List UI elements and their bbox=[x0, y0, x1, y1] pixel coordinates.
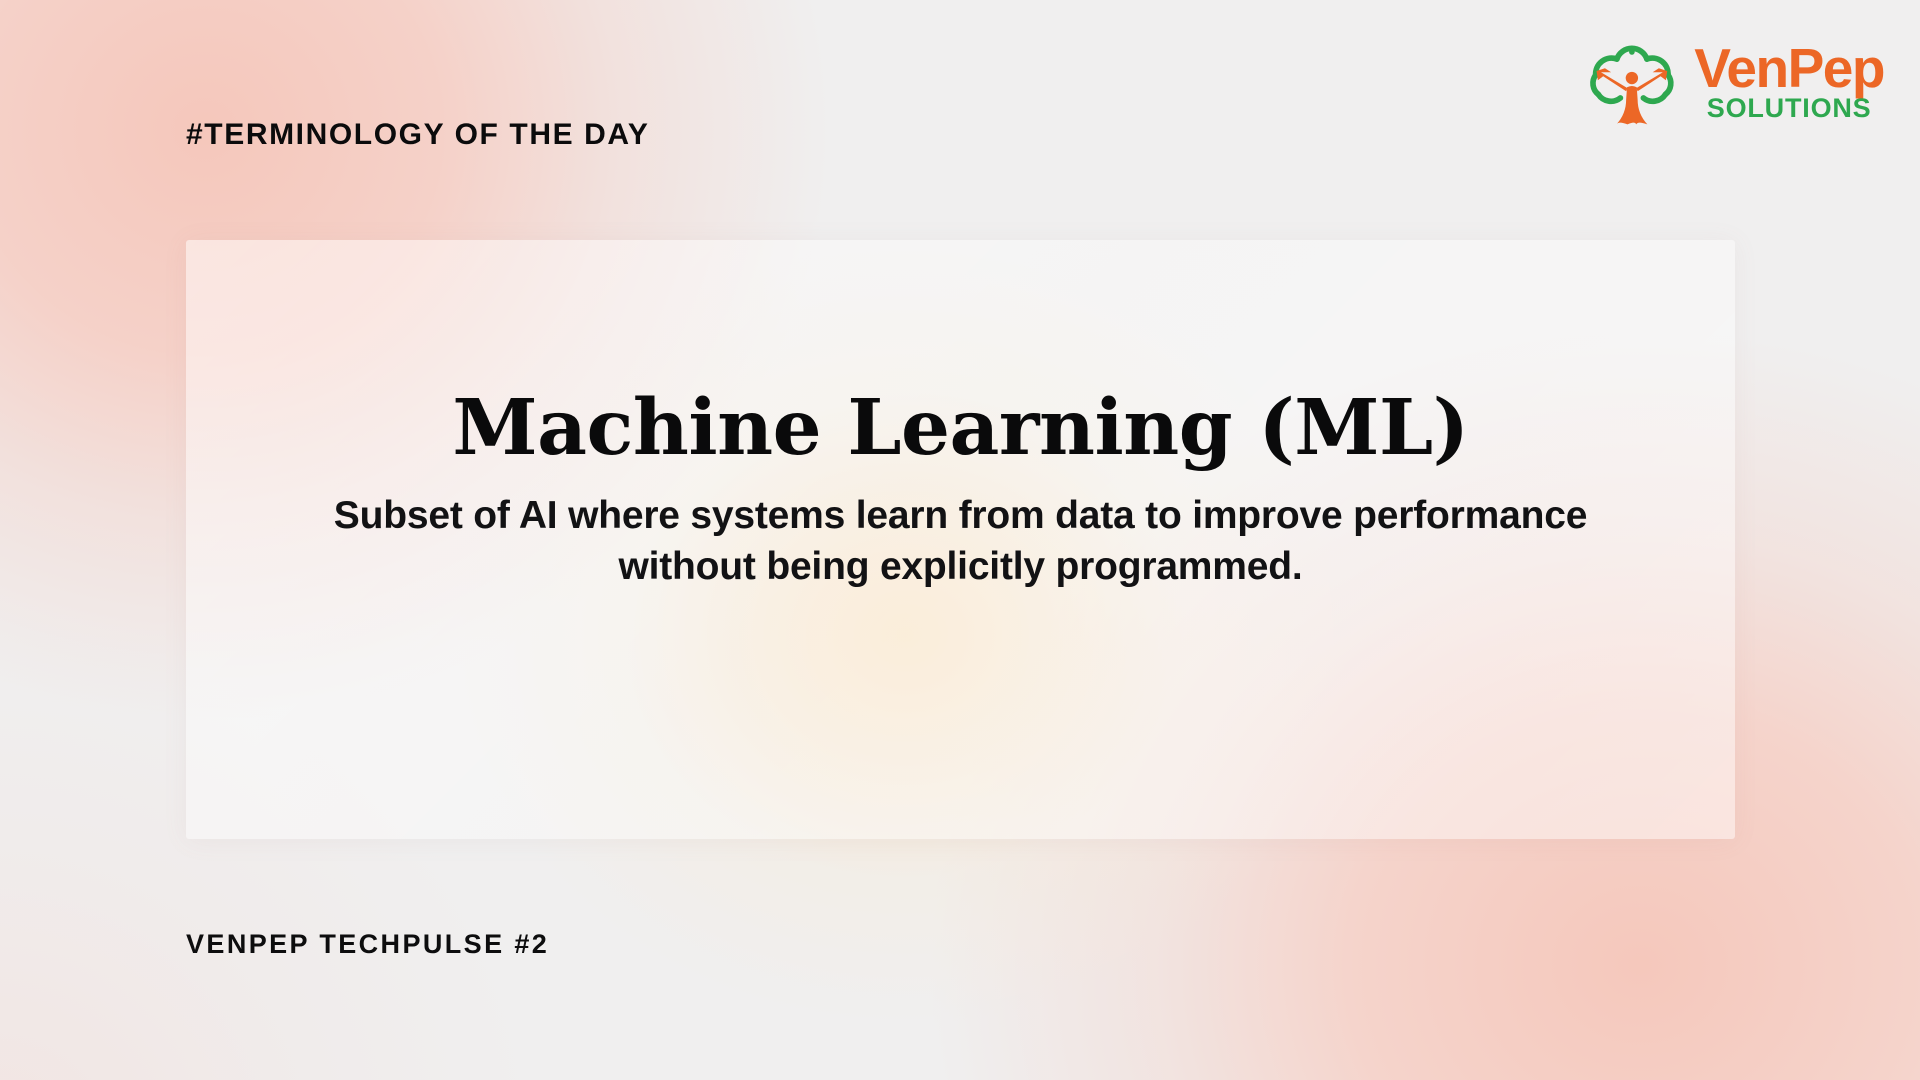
term-block: Machine Learning (ML) Subset of AI where… bbox=[186, 390, 1735, 592]
logo-word-venpep: VenPep bbox=[1694, 43, 1884, 95]
footer-series-tag: VENPEP TECHPULSE #2 bbox=[186, 929, 549, 960]
term-title: Machine Learning (ML) bbox=[186, 390, 1735, 467]
logo-lockup: VenPep SOLUTIONS bbox=[1578, 26, 1884, 138]
slide-canvas: #TERMINOLOGY OF THE DAY Machine Learning… bbox=[0, 0, 1920, 1080]
logo-word-solutions: SOLUTIONS bbox=[1707, 96, 1872, 121]
term-definition: Subset of AI where systems learn from da… bbox=[186, 491, 1735, 592]
venpep-tree-logo-icon bbox=[1578, 29, 1684, 135]
logo-wordmark: VenPep SOLUTIONS bbox=[1694, 43, 1884, 121]
eyebrow-hashtag: #TERMINOLOGY OF THE DAY bbox=[186, 118, 650, 152]
